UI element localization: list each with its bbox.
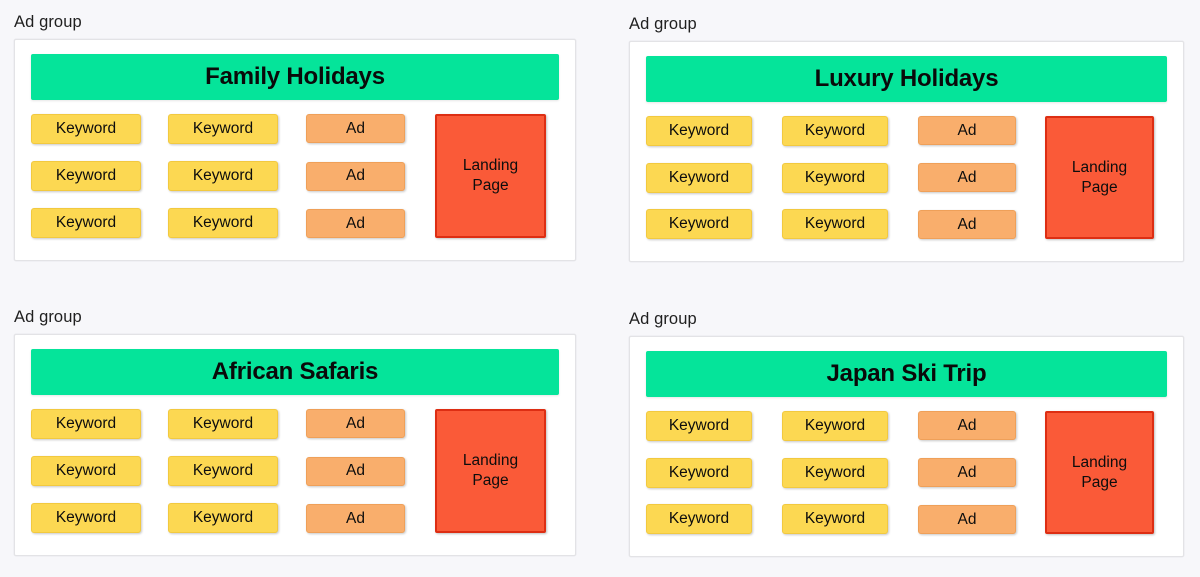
keyword-chip[interactable]: Keyword bbox=[31, 503, 141, 533]
ad-chip[interactable]: Ad bbox=[306, 457, 405, 486]
ad-group-block-1: Ad group Family Holidays Keyword Keyword… bbox=[14, 12, 576, 261]
keyword-chip[interactable]: Keyword bbox=[168, 114, 278, 144]
ad-group-title-banner-1: Family Holidays bbox=[31, 54, 559, 100]
ad-chip[interactable]: Ad bbox=[918, 411, 1016, 440]
ad-group-title-3: African Safaris bbox=[212, 358, 378, 386]
keyword-chip-label: Keyword bbox=[805, 215, 865, 233]
keyword-column-2-b: Keyword Keyword Keyword bbox=[782, 116, 888, 239]
keyword-chip[interactable]: Keyword bbox=[782, 116, 888, 146]
ad-chip-label: Ad bbox=[346, 462, 365, 480]
ad-chip[interactable]: Ad bbox=[918, 163, 1016, 192]
ad-chip[interactable]: Ad bbox=[918, 458, 1016, 487]
keyword-chip-label: Keyword bbox=[669, 215, 729, 233]
keyword-chip[interactable]: Keyword bbox=[168, 208, 278, 238]
keyword-chip-label: Keyword bbox=[193, 509, 253, 527]
keyword-chip-label: Keyword bbox=[669, 417, 729, 435]
keyword-chip-label: Keyword bbox=[669, 510, 729, 528]
keyword-chip[interactable]: Keyword bbox=[31, 208, 141, 238]
keyword-column-3-b: Keyword Keyword Keyword bbox=[168, 409, 278, 533]
ad-group-card-1[interactable]: Family Holidays Keyword Keyword Keyword bbox=[14, 39, 576, 261]
landing-page-box[interactable]: Landing Page bbox=[1045, 411, 1154, 534]
keyword-chip-label: Keyword bbox=[193, 462, 253, 480]
keyword-column-1-a: Keyword Keyword Keyword bbox=[31, 114, 141, 238]
landing-page-column-3: Landing Page bbox=[435, 409, 546, 533]
ad-group-label-4: Ad group bbox=[629, 309, 1184, 329]
keyword-chip[interactable]: Keyword bbox=[782, 504, 888, 534]
keyword-chip-label: Keyword bbox=[56, 462, 116, 480]
ad-chip-label: Ad bbox=[346, 510, 365, 528]
keyword-chip[interactable]: Keyword bbox=[31, 456, 141, 486]
ad-column-4: Ad Ad Ad bbox=[918, 411, 1016, 534]
ad-column-1: Ad Ad Ad bbox=[306, 114, 405, 238]
ad-group-title-banner-4: Japan Ski Trip bbox=[646, 351, 1167, 397]
keyword-chip-label: Keyword bbox=[669, 169, 729, 187]
keyword-chip-label: Keyword bbox=[805, 510, 865, 528]
keyword-chip[interactable]: Keyword bbox=[646, 209, 752, 239]
keyword-chip[interactable]: Keyword bbox=[646, 504, 752, 534]
ad-chip[interactable]: Ad bbox=[306, 504, 405, 533]
keyword-chip-label: Keyword bbox=[56, 120, 116, 138]
ad-chip-label: Ad bbox=[958, 169, 977, 187]
ad-chip-label: Ad bbox=[346, 167, 365, 185]
keyword-chip-label: Keyword bbox=[193, 415, 253, 433]
keyword-chip-label: Keyword bbox=[193, 214, 253, 232]
ad-chip[interactable]: Ad bbox=[306, 162, 405, 191]
ad-chip-label: Ad bbox=[958, 216, 977, 234]
keyword-chip[interactable]: Keyword bbox=[646, 458, 752, 488]
landing-page-label-line2: Page bbox=[472, 176, 508, 196]
keyword-chip-label: Keyword bbox=[193, 167, 253, 185]
ad-chip-label: Ad bbox=[346, 415, 365, 433]
keyword-chip-label: Keyword bbox=[56, 415, 116, 433]
ad-group-block-2: Ad group Luxury Holidays Keyword Keyword… bbox=[629, 14, 1184, 262]
ad-chip[interactable]: Ad bbox=[918, 505, 1016, 534]
keyword-chip[interactable]: Keyword bbox=[782, 209, 888, 239]
ad-group-card-4[interactable]: Japan Ski Trip Keyword Keyword Keyword bbox=[629, 336, 1184, 557]
ad-group-title-2: Luxury Holidays bbox=[815, 65, 999, 93]
ad-group-card-3[interactable]: African Safaris Keyword Keyword Keyword bbox=[14, 334, 576, 556]
ad-group-grid-2: Keyword Keyword Keyword Keyword Keyword bbox=[646, 116, 1167, 239]
ad-group-block-4: Ad group Japan Ski Trip Keyword Keyword … bbox=[629, 309, 1184, 557]
landing-page-column-4: Landing Page bbox=[1045, 411, 1154, 534]
ad-chip-label: Ad bbox=[958, 417, 977, 435]
ad-group-title-banner-3: African Safaris bbox=[31, 349, 559, 395]
ad-column-2: Ad Ad Ad bbox=[918, 116, 1016, 239]
ad-group-label-2: Ad group bbox=[629, 14, 1184, 34]
keyword-chip[interactable]: Keyword bbox=[782, 163, 888, 193]
ad-group-card-2[interactable]: Luxury Holidays Keyword Keyword Keyword bbox=[629, 41, 1184, 262]
ad-chip-label: Ad bbox=[346, 120, 365, 138]
keyword-chip[interactable]: Keyword bbox=[646, 411, 752, 441]
ad-group-grid-1: Keyword Keyword Keyword Keyword Keyword bbox=[31, 114, 559, 238]
ad-chip[interactable]: Ad bbox=[306, 409, 405, 438]
ad-group-title-4: Japan Ski Trip bbox=[827, 360, 987, 388]
ad-group-block-3: Ad group African Safaris Keyword Keyword… bbox=[14, 307, 576, 556]
keyword-chip[interactable]: Keyword bbox=[646, 116, 752, 146]
ad-chip[interactable]: Ad bbox=[918, 210, 1016, 239]
keyword-chip-label: Keyword bbox=[805, 122, 865, 140]
keyword-column-2-a: Keyword Keyword Keyword bbox=[646, 116, 752, 239]
ad-group-title-banner-2: Luxury Holidays bbox=[646, 56, 1167, 102]
keyword-chip-label: Keyword bbox=[56, 214, 116, 232]
landing-page-label-line1: Landing bbox=[1072, 453, 1127, 473]
ad-chip-label: Ad bbox=[346, 215, 365, 233]
keyword-column-3-a: Keyword Keyword Keyword bbox=[31, 409, 141, 533]
ad-group-label-3: Ad group bbox=[14, 307, 576, 327]
ad-chip[interactable]: Ad bbox=[918, 116, 1016, 145]
ad-group-label-1: Ad group bbox=[14, 12, 576, 32]
ad-group-diagram: Ad group Family Holidays Keyword Keyword… bbox=[0, 0, 1200, 577]
landing-page-label-line1: Landing bbox=[463, 451, 518, 471]
keyword-chip-label: Keyword bbox=[805, 417, 865, 435]
landing-page-column-2: Landing Page bbox=[1045, 116, 1154, 239]
landing-page-box[interactable]: Landing Page bbox=[435, 409, 546, 533]
ad-group-grid-4: Keyword Keyword Keyword Keyword Keyword bbox=[646, 411, 1167, 534]
landing-page-label-line1: Landing bbox=[463, 156, 518, 176]
keyword-chip[interactable]: Keyword bbox=[168, 503, 278, 533]
landing-page-box[interactable]: Landing Page bbox=[1045, 116, 1154, 239]
keyword-chip-label: Keyword bbox=[669, 122, 729, 140]
keyword-chip[interactable]: Keyword bbox=[168, 456, 278, 486]
ad-group-grid-3: Keyword Keyword Keyword Keyword Keyword bbox=[31, 409, 559, 533]
keyword-chip[interactable]: Keyword bbox=[782, 458, 888, 488]
landing-page-box[interactable]: Landing Page bbox=[435, 114, 546, 238]
ad-chip-label: Ad bbox=[958, 511, 977, 529]
keyword-chip-label: Keyword bbox=[669, 464, 729, 482]
landing-page-column-1: Landing Page bbox=[435, 114, 546, 238]
ad-chip[interactable]: Ad bbox=[306, 209, 405, 238]
keyword-chip-label: Keyword bbox=[805, 169, 865, 187]
landing-page-label-line1: Landing bbox=[1072, 158, 1127, 178]
ad-chip-label: Ad bbox=[958, 464, 977, 482]
keyword-column-4-b: Keyword Keyword Keyword bbox=[782, 411, 888, 534]
keyword-chip-label: Keyword bbox=[805, 464, 865, 482]
keyword-chip[interactable]: Keyword bbox=[168, 409, 278, 439]
ad-group-title-1: Family Holidays bbox=[205, 63, 385, 91]
keyword-chip[interactable]: Keyword bbox=[646, 163, 752, 193]
ad-chip-label: Ad bbox=[958, 122, 977, 140]
keyword-chip[interactable]: Keyword bbox=[31, 114, 141, 144]
keyword-chip-label: Keyword bbox=[56, 509, 116, 527]
keyword-chip-label: Keyword bbox=[56, 167, 116, 185]
keyword-column-4-a: Keyword Keyword Keyword bbox=[646, 411, 752, 534]
landing-page-label-line2: Page bbox=[1081, 473, 1117, 493]
keyword-chip[interactable]: Keyword bbox=[31, 161, 141, 191]
keyword-chip[interactable]: Keyword bbox=[31, 409, 141, 439]
ad-chip[interactable]: Ad bbox=[306, 114, 405, 143]
keyword-chip[interactable]: Keyword bbox=[782, 411, 888, 441]
landing-page-label-line2: Page bbox=[1081, 178, 1117, 198]
keyword-chip-label: Keyword bbox=[193, 120, 253, 138]
keyword-column-1-b: Keyword Keyword Keyword bbox=[168, 114, 278, 238]
keyword-chip[interactable]: Keyword bbox=[168, 161, 278, 191]
ad-column-3: Ad Ad Ad bbox=[306, 409, 405, 533]
landing-page-label-line2: Page bbox=[472, 471, 508, 491]
